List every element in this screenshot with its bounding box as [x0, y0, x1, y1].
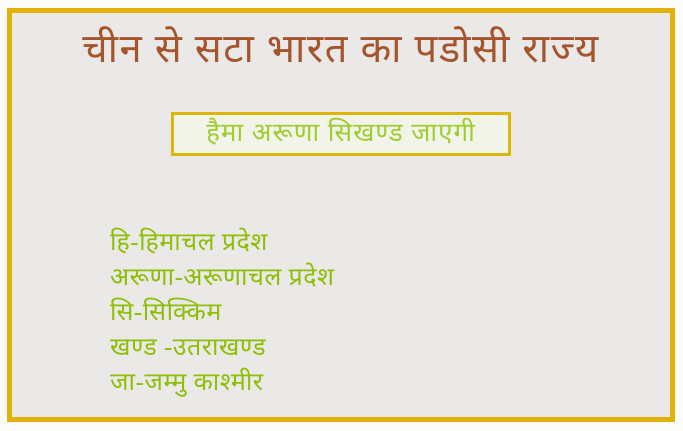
mnemonic-row: हैमा अरूणा सिखण्ड जाएगी: [12, 112, 670, 156]
list-item: हि-हिमाचल प्रदेश: [110, 225, 630, 260]
list-item: सि-सिक्किम: [110, 295, 630, 330]
page-title: चीन से सटा भारत का पडोसी राज्य: [82, 25, 599, 73]
list-item: खण्ड -उतराखण्ड: [110, 330, 630, 365]
slide-canvas: चीन से सटा भारत का पडोसी राज्य हैमा अरूण…: [0, 0, 683, 431]
expansion-list: हि-हिमाचल प्रदेश अरूणा-अरूणाचल प्रदेश सि…: [110, 225, 630, 400]
list-item: जा-जम्मु काश्मीर: [110, 365, 630, 400]
mnemonic-highlight-box: हैमा अरूणा सिखण्ड जाएगी: [171, 112, 511, 156]
page-title-row: चीन से सटा भारत का पडोसी राज्य: [12, 25, 670, 73]
slide-gold-frame: चीन से सटा भारत का पडोसी राज्य हैमा अरूण…: [7, 8, 675, 422]
list-item: अरूणा-अरूणाचल प्रदेश: [110, 260, 630, 295]
mnemonic-text: हैमा अरूणा सिखण्ड जाएगी: [206, 118, 476, 147]
